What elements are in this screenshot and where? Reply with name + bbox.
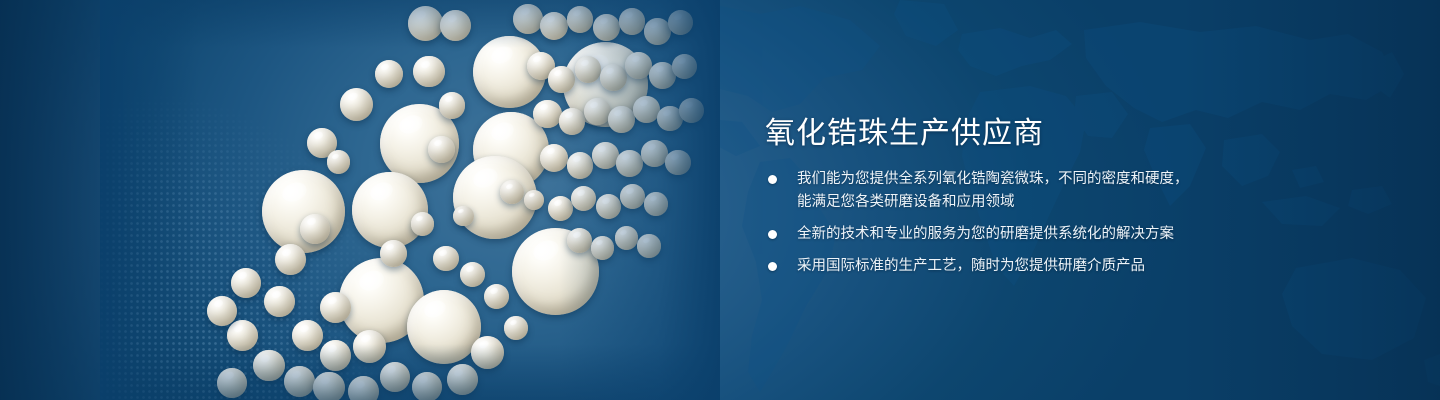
ceramic-bead — [217, 368, 247, 398]
ceramic-bead — [340, 88, 373, 121]
zirconia-beads-photo — [100, 0, 720, 400]
ceramic-bead — [433, 246, 458, 271]
ceramic-bead — [513, 4, 543, 34]
ceramic-bead — [619, 8, 646, 35]
feature-bullet: 全新的技术和专业的服务为您的研磨提供系统化的解决方案 — [768, 223, 1189, 246]
bullet-dot-icon — [768, 262, 777, 271]
ceramic-bead — [500, 180, 524, 204]
ceramic-bead — [644, 18, 671, 45]
ceramic-bead — [571, 186, 596, 211]
bullet-dot-icon — [768, 175, 777, 184]
ceramic-bead — [548, 66, 575, 93]
ceramic-bead — [641, 140, 668, 167]
ceramic-bead — [231, 268, 261, 298]
ceramic-bead — [407, 290, 481, 364]
ceramic-bead — [504, 316, 528, 340]
bullet-text-line: 采用国际标准的生产工艺，随时为您提供研磨介质产品 — [797, 255, 1189, 278]
ceramic-bead — [453, 206, 473, 226]
ceramic-bead — [608, 106, 635, 133]
ceramic-bead — [559, 108, 586, 135]
ceramic-bead — [633, 96, 660, 123]
ceramic-bead — [207, 296, 237, 326]
ceramic-bead — [625, 52, 652, 79]
ceramic-bead — [380, 240, 407, 267]
ceramic-bead — [665, 150, 690, 175]
ceramic-bead — [300, 214, 330, 244]
ceramic-bead — [567, 6, 594, 33]
ceramic-bead — [591, 236, 615, 260]
bullet-dot-icon — [768, 230, 777, 239]
ceramic-bead — [408, 6, 443, 41]
ceramic-bead — [412, 372, 442, 400]
ceramic-bead — [567, 228, 592, 253]
ceramic-bead — [616, 150, 643, 177]
banner-text-block: 氧化锆珠生产供应商 我们能为您提供全系列氧化锆陶瓷微珠，不同的密度和硬度，能满足… — [765, 0, 1365, 400]
feature-bullet: 采用国际标准的生产工艺，随时为您提供研磨介质产品 — [768, 255, 1189, 278]
page-title: 氧化锆珠生产供应商 — [765, 108, 1044, 152]
bullet-text-line: 能满足您各类研磨设备和应用领域 — [797, 191, 1189, 214]
hero-banner: 氧化锆珠生产供应商 我们能为您提供全系列氧化锆陶瓷微珠，不同的密度和硬度，能满足… — [0, 0, 1440, 400]
ceramic-bead — [575, 56, 602, 83]
ceramic-bead — [411, 212, 435, 236]
ceramic-bead — [428, 136, 455, 163]
ceramic-bead — [380, 362, 410, 392]
ceramic-bead — [313, 372, 344, 400]
ceramic-bead — [413, 56, 444, 87]
ceramic-bead — [567, 152, 594, 179]
ceramic-bead — [375, 60, 403, 88]
bullet-text-line: 全新的技术和专业的服务为您的研磨提供系统化的解决方案 — [797, 223, 1189, 246]
feature-bullet-list: 我们能为您提供全系列氧化锆陶瓷微珠，不同的密度和硬度，能满足您各类研磨设备和应用… — [768, 168, 1189, 278]
ceramic-bead — [471, 336, 504, 369]
ceramic-bead — [644, 192, 668, 216]
ceramic-bead — [592, 142, 619, 169]
ceramic-bead — [253, 350, 284, 381]
ceramic-bead — [593, 14, 620, 41]
ceramic-bead — [679, 98, 704, 123]
ceramic-bead — [327, 150, 351, 174]
ceramic-bead — [352, 172, 428, 248]
feature-bullet: 我们能为您提供全系列氧化锆陶瓷微珠，不同的密度和硬度，能满足您各类研磨设备和应用… — [768, 168, 1189, 214]
bullet-text-line: 我们能为您提供全系列氧化锆陶瓷微珠，不同的密度和硬度， — [797, 168, 1189, 191]
ceramic-bead — [600, 64, 627, 91]
ceramic-bead — [637, 234, 661, 258]
ceramic-bead — [584, 98, 611, 125]
ceramic-bead — [439, 92, 466, 119]
ceramic-bead — [615, 226, 639, 250]
ceramic-bead — [533, 100, 561, 128]
